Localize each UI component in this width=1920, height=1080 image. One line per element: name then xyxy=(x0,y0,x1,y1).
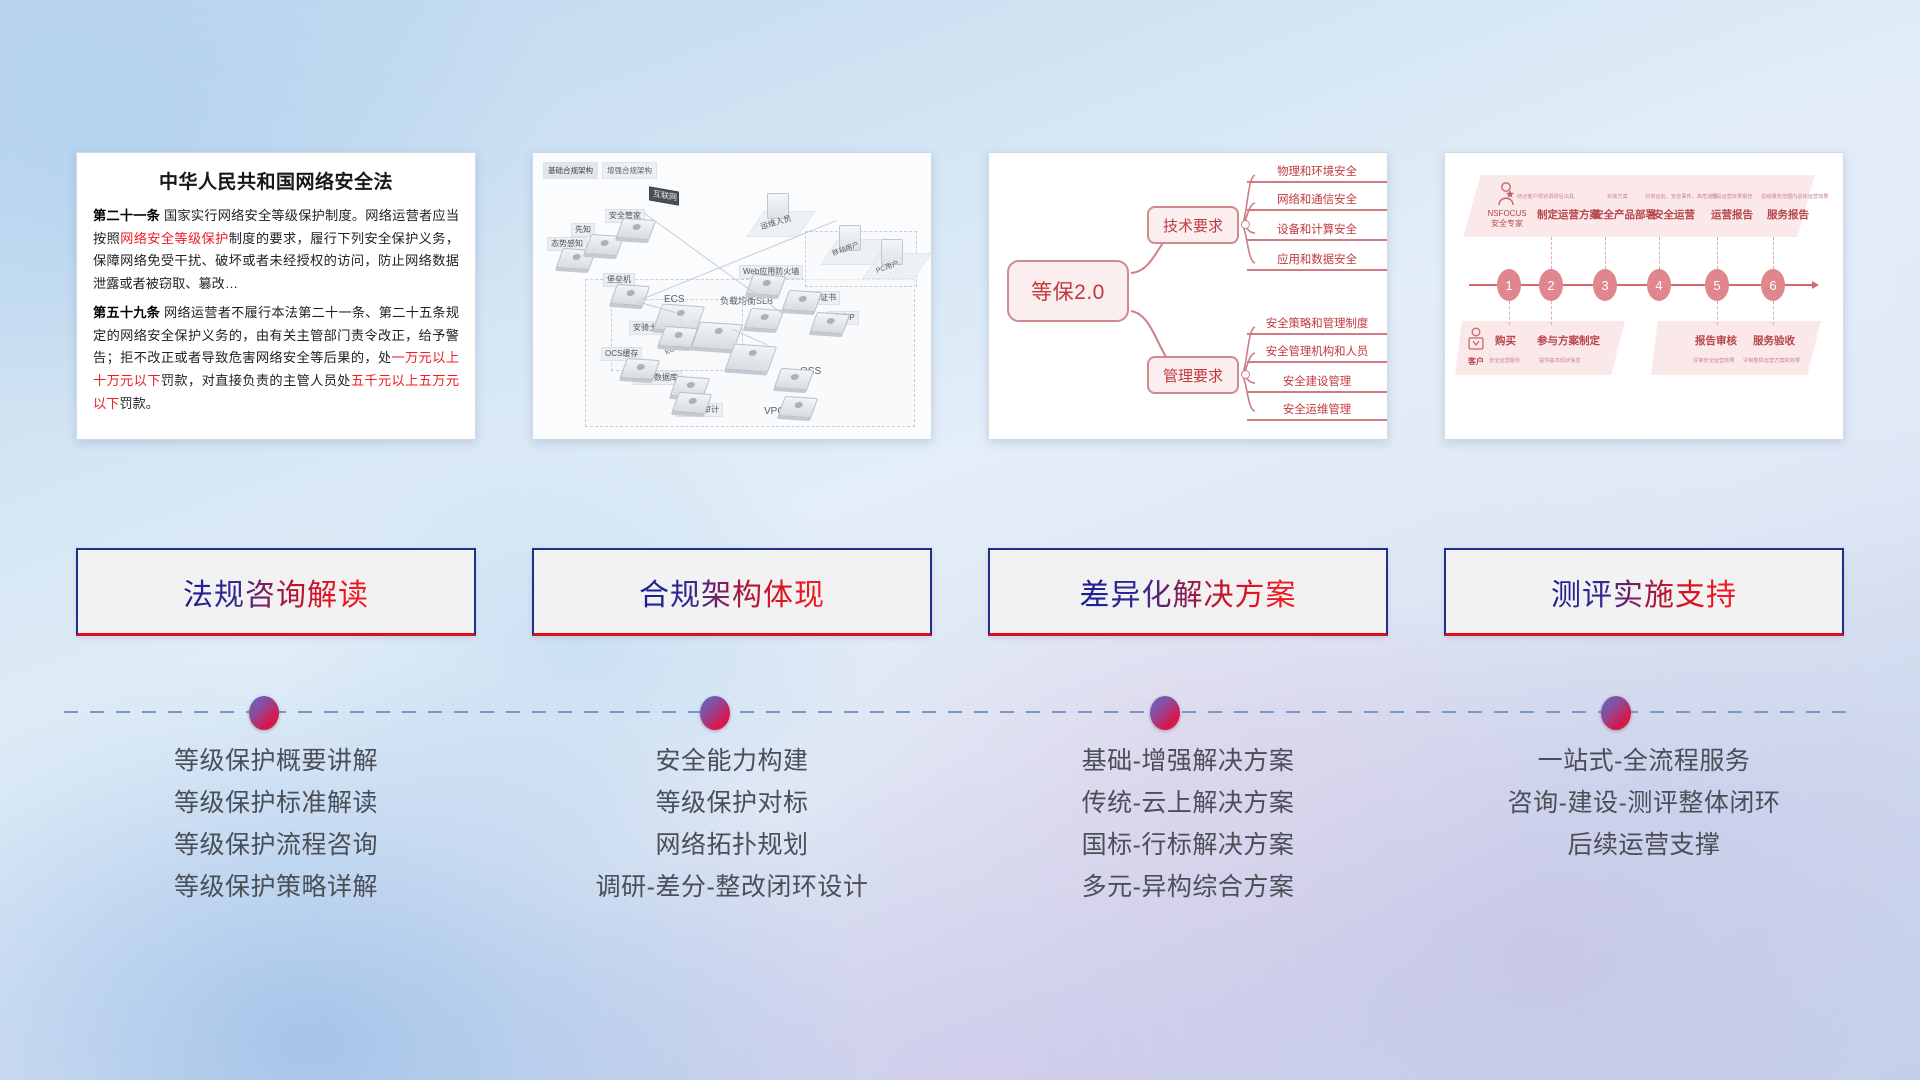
article-59-post: 罚款。 xyxy=(119,396,159,411)
law-title: 中华人民共和国网络安全法 xyxy=(93,167,459,194)
flow-bottom-sub-2: 提供基本现状信息 xyxy=(1539,357,1581,364)
tab-basic-architecture[interactable]: 基础合规架构 xyxy=(543,162,598,179)
list-item: 传统-云上解决方案 xyxy=(988,782,1388,824)
flow-tick-5-top xyxy=(1717,237,1718,269)
node-xianzhi xyxy=(587,235,621,255)
mindmap-leaf-label: 安全建设管理 xyxy=(1247,373,1387,391)
flow-step-4: 4 xyxy=(1647,269,1671,301)
law-article-21: 第二十一条 国家实行网络安全等级保护制度。网络运营者应当按照网络安全等级保护制度… xyxy=(93,205,459,296)
flow-bottom-title-2: 参与方案制定 xyxy=(1537,333,1600,348)
mindmap-leaf-label: 物理和环境安全 xyxy=(1247,163,1387,181)
timeline-connector xyxy=(64,692,1856,732)
flow-step-6: 6 xyxy=(1761,269,1785,301)
tab-enhanced-architecture[interactable]: 增强合规架构 xyxy=(602,162,657,179)
heading-label: 测评实施支持 xyxy=(1551,570,1737,614)
article-21-highlight: 网络安全等级保护 xyxy=(120,231,229,246)
flow-tick-4-top xyxy=(1659,237,1660,269)
flow-tick-3-top xyxy=(1605,237,1606,269)
flow-bottom-title-3: 报告审核 xyxy=(1695,333,1737,348)
flow-brand-role: 安全专家 xyxy=(1479,219,1535,229)
list-item: 咨询-建设-测评整体闭环 xyxy=(1444,782,1844,824)
flow-top-sub-1: 结合客户现状调研后出具 xyxy=(1517,193,1574,200)
flow-brand-name: NSFOCUS xyxy=(1479,209,1535,219)
node-scaling-2 xyxy=(729,345,773,371)
mindmap-leaf-security-org: 安全管理机构和人员 xyxy=(1247,343,1387,363)
law-article-59: 第五十九条 网络运营者不履行本法第二十一条、第二十五条规定的网络安全保护义务的，… xyxy=(93,302,459,416)
flow-tick-6-top xyxy=(1773,237,1774,269)
list-item: 等级保护流程咨询 xyxy=(76,824,476,866)
flow-top-title-4: 运营报告 xyxy=(1711,207,1753,222)
list-item: 等级保护策略详解 xyxy=(76,866,476,908)
node-slb xyxy=(747,309,781,329)
service-flow-diagram: NSFOCUS 安全专家 客户 结合客户现状调研后出具 制定运营方案 实施方案 … xyxy=(1445,153,1843,439)
flow-top-title-5: 服务报告 xyxy=(1767,207,1809,222)
flow-step-2: 2 xyxy=(1539,269,1563,301)
mindmap-leaf-label: 应用和数据安全 xyxy=(1247,251,1387,269)
bullet-column-regulation: 等级保护概要讲解 等级保护标准解读 等级保护流程咨询 等级保护策略详解 xyxy=(76,740,476,908)
flow-top-title-3: 安全运营 xyxy=(1653,207,1695,222)
list-item: 后续运营支撑 xyxy=(1444,824,1844,866)
flow-brand-block: NSFOCUS 安全专家 xyxy=(1479,209,1535,229)
mindmap-leaf-label: 安全运维管理 xyxy=(1247,401,1387,419)
timeline-dot-2 xyxy=(700,696,730,730)
list-item: 等级保护标准解读 xyxy=(76,782,476,824)
mindmap-leaf-security-operations: 安全运维管理 xyxy=(1247,401,1387,421)
flow-tick-6-bottom xyxy=(1773,301,1774,325)
mindmap-leaf-device-security: 设备和计算安全 xyxy=(1247,221,1387,241)
flow-customer-label: 客户 xyxy=(1468,356,1484,367)
flow-bottom-sub-1: 安全运营服务 xyxy=(1489,357,1520,364)
flow-step-3: 3 xyxy=(1593,269,1617,301)
flow-bottom-title-1: 购买 xyxy=(1495,333,1516,348)
flow-top-title-2: 安全产品部署 xyxy=(1593,207,1656,222)
node-ocs-cache xyxy=(623,359,657,379)
node-security-butler xyxy=(619,219,653,239)
list-item: 调研-差分-整改闭环设计 xyxy=(532,866,932,908)
flow-band-customer-right xyxy=(1651,321,1821,375)
mindmap-leaf-label: 安全管理机构和人员 xyxy=(1247,343,1387,361)
list-item: 等级保护对标 xyxy=(532,782,932,824)
timeline-dot-4 xyxy=(1601,696,1631,730)
law-document-body: 中华人民共和国网络安全法 第二十一条 国家实行网络安全等级保护制度。网络运营者应… xyxy=(77,153,475,439)
label-internet: 互联网 xyxy=(649,186,679,205)
mindmap-leaf-security-policy: 安全策略和管理制度 xyxy=(1247,315,1387,335)
node-database-audit xyxy=(675,393,709,413)
heading-label: 法规咨询解读 xyxy=(183,570,369,614)
flow-tick-2-bottom xyxy=(1551,301,1552,325)
article-59-label: 第五十九条 xyxy=(93,305,160,320)
flow-top-sub-2: 实施方案 xyxy=(1607,193,1628,200)
flow-tick-1-bottom xyxy=(1509,301,1510,325)
node-vpc xyxy=(781,397,815,417)
mindmap-branch-technical: 技术要求 xyxy=(1147,206,1239,244)
node-anti-ddos-ip xyxy=(813,313,847,333)
bullet-columns-row: 等级保护概要讲解 等级保护标准解读 等级保护流程咨询 等级保护策略详解 安全能力… xyxy=(0,740,1920,908)
timeline-dot-1 xyxy=(249,696,279,730)
card-law-document[interactable]: 中华人民共和国网络安全法 第二十一条 国家实行网络安全等级保护制度。网络运营者应… xyxy=(76,152,476,440)
mindmap-diagram: 等保2.0 技术要求 管理要求 物理和环境安全 网络和通信 xyxy=(989,153,1387,439)
node-oss xyxy=(777,369,811,389)
heading-label: 差异化解决方案 xyxy=(1080,570,1297,614)
mindmap-leaf-application-security: 应用和数据安全 xyxy=(1247,251,1387,271)
list-item: 网络拓扑规划 xyxy=(532,824,932,866)
list-item: 基础-增强解决方案 xyxy=(988,740,1388,782)
mindmap-branch-management: 管理要求 xyxy=(1147,356,1239,394)
card-cloud-architecture[interactable]: 基础合规架构 增强合规架构 互联网 运维人员 移动用户 PC用户 态势感知 先知… xyxy=(532,152,932,440)
mindmap-leaf-network-security: 网络和通信安全 xyxy=(1247,191,1387,211)
flow-step-5: 5 xyxy=(1705,269,1729,301)
node-ca-certificate xyxy=(785,291,819,311)
mindmap-leaf-label: 安全策略和管理制度 xyxy=(1247,315,1387,333)
heading-box-differentiated-solution[interactable]: 差异化解决方案 xyxy=(988,548,1388,636)
list-item: 等级保护概要讲解 xyxy=(76,740,476,782)
flow-bottom-sub-3: 评审安全运营效果 xyxy=(1693,357,1735,364)
flow-top-sub-3: 日常运处、安全事件、高危处置 xyxy=(1645,193,1718,200)
flow-step-1: 1 xyxy=(1497,269,1521,301)
flow-top-sub-4: 阶段运营效果报告 xyxy=(1711,193,1753,200)
heading-box-compliance-architecture[interactable]: 合规架构体现 xyxy=(532,548,932,636)
flow-top-title-1: 制定运营方案 xyxy=(1537,207,1600,222)
node-anqishi xyxy=(661,327,695,347)
card-mindmap[interactable]: 等保2.0 技术要求 管理要求 物理和环境安全 网络和通信 xyxy=(988,152,1388,440)
timeline-dashed-line xyxy=(64,711,1856,713)
list-item: 国标-行标解决方案 xyxy=(988,824,1388,866)
mindmap-leaf-label: 设备和计算安全 xyxy=(1247,221,1387,239)
mindmap-leaf-label: 网络和通信安全 xyxy=(1247,191,1387,209)
timeline-dot-3 xyxy=(1150,696,1180,730)
bullet-column-assessment: 一站式-全流程服务 咨询-建设-测评整体闭环 后续运营支撑 xyxy=(1444,740,1844,908)
mindmap-leaf-security-construction: 安全建设管理 xyxy=(1247,373,1387,393)
bullet-column-architecture: 安全能力构建 等级保护对标 网络拓扑规划 调研-差分-整改闭环设计 xyxy=(532,740,932,908)
mindmap-leaf-physical-security: 物理和环境安全 xyxy=(1247,163,1387,183)
article-59-mid: 罚款，对直接负责的主管人员处 xyxy=(161,373,351,388)
customer-avatar-icon xyxy=(1465,327,1487,353)
card-service-flow[interactable]: NSFOCUS 安全专家 客户 结合客户现状调研后出具 制定运营方案 实施方案 … xyxy=(1444,152,1844,440)
article-21-label: 第二十一条 xyxy=(93,208,160,223)
flow-bottom-title-4: 服务验收 xyxy=(1753,333,1795,348)
mindmap-root-node: 等保2.0 xyxy=(1007,260,1129,322)
heading-box-assessment-support[interactable]: 测评实施支持 xyxy=(1444,548,1844,636)
heading-label: 合规架构体现 xyxy=(639,570,825,614)
flow-top-sub-5: 总结服务范围内总体运营效果 xyxy=(1761,193,1828,200)
flow-bottom-sub-4: 评审整体运营方案和效果 xyxy=(1743,357,1800,364)
architecture-tabs: 基础合规架构 增强合规架构 xyxy=(543,162,657,179)
flow-tick-5-bottom xyxy=(1717,301,1718,325)
flow-tick-2-top xyxy=(1551,237,1552,269)
bullet-column-solution: 基础-增强解决方案 传统-云上解决方案 国标-行标解决方案 多元-异构综合方案 xyxy=(988,740,1388,908)
expert-avatar-icon xyxy=(1493,181,1519,207)
heading-box-regulation-consulting[interactable]: 法规咨询解读 xyxy=(76,548,476,636)
list-item: 多元-异构综合方案 xyxy=(988,866,1388,908)
preview-cards-row: 中华人民共和国网络安全法 第二十一条 国家实行网络安全等级保护制度。网络运营者应… xyxy=(0,152,1920,452)
headings-row: 法规咨询解读 合规架构体现 差异化解决方案 测评实施支持 xyxy=(0,548,1920,636)
architecture-diagram: 基础合规架构 增强合规架构 互联网 运维人员 移动用户 PC用户 态势感知 先知… xyxy=(533,153,931,439)
list-item: 安全能力构建 xyxy=(532,740,932,782)
list-item: 一站式-全流程服务 xyxy=(1444,740,1844,782)
